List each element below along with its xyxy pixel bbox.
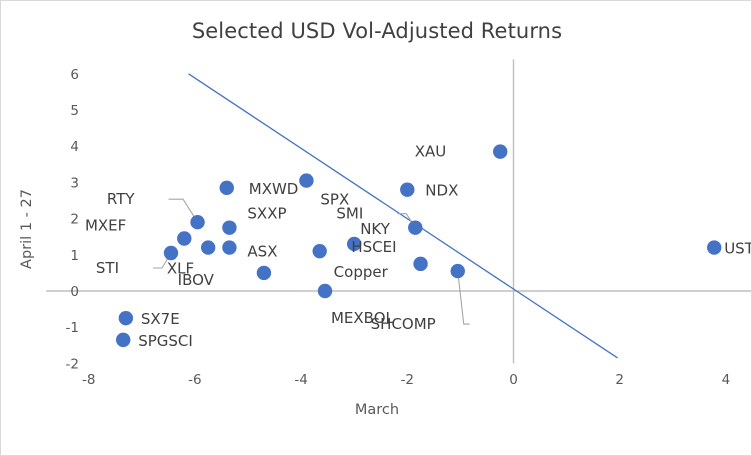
data-point-label: NDX	[425, 182, 458, 200]
data-point-label: IBOV	[178, 271, 215, 289]
data-point-marker[interactable]	[220, 181, 234, 195]
data-point-marker[interactable]	[493, 144, 507, 158]
data-point-marker[interactable]	[318, 284, 332, 298]
data-point-label: RTY	[107, 190, 135, 208]
y-tick-label: 6	[70, 67, 79, 83]
data-point-label: SMI	[336, 205, 363, 223]
data-point-marker[interactable]	[312, 244, 326, 258]
data-point-label: Copper	[334, 263, 389, 281]
data-point-label: ASX	[247, 243, 277, 261]
x-axis-title: March	[355, 402, 399, 418]
x-tick-label: -6	[188, 372, 201, 388]
data-point-label: SPGSCI	[138, 332, 193, 350]
data-point-label: XAU	[415, 143, 447, 161]
data-point-marker[interactable]	[400, 182, 414, 196]
y-tick-label: 3	[70, 175, 79, 191]
data-point-label: STI	[96, 259, 119, 277]
label-leader-line	[458, 271, 470, 324]
scatter-plot: -2-10123456-8-6-4-2024MarchApril 1 - 27M…	[1, 1, 752, 456]
data-point-label: NKY	[360, 220, 391, 238]
x-tick-label: -8	[82, 372, 95, 388]
x-tick-label: 4	[722, 372, 731, 388]
x-tick-label: 2	[615, 372, 624, 388]
data-point-marker[interactable]	[299, 173, 313, 187]
y-tick-label: 4	[70, 139, 79, 155]
y-tick-label: 1	[70, 248, 79, 264]
y-tick-label: 5	[70, 103, 79, 119]
data-point-marker[interactable]	[222, 220, 236, 234]
data-point-marker[interactable]	[201, 240, 215, 254]
y-axis-title: April 1 - 27	[19, 189, 35, 269]
data-point-marker[interactable]	[116, 333, 130, 347]
data-point-label: UST	[724, 240, 752, 258]
data-point-marker[interactable]	[190, 215, 204, 229]
data-point-label: MXEF	[85, 217, 126, 235]
data-point-marker[interactable]	[257, 266, 271, 280]
data-point-marker[interactable]	[413, 257, 427, 271]
data-point-label: HSCEI	[351, 238, 396, 256]
y-tick-label: 2	[70, 212, 79, 228]
data-point-marker[interactable]	[177, 231, 191, 245]
data-point-label: SX7E	[141, 310, 180, 328]
data-point-marker[interactable]	[408, 220, 422, 234]
data-point-marker[interactable]	[119, 311, 133, 325]
y-tick-label: -1	[66, 320, 79, 336]
chart-container: Selected USD Vol-Adjusted Returns -2-101…	[0, 0, 752, 456]
x-tick-label: 0	[509, 372, 518, 388]
data-point-label: SXXP	[247, 205, 286, 223]
data-point-label: MXWD	[249, 180, 299, 198]
x-tick-label: -2	[401, 372, 414, 388]
data-point-marker[interactable]	[707, 240, 721, 254]
y-tick-label: -2	[66, 356, 79, 372]
x-tick-label: -4	[294, 372, 307, 388]
data-point-marker[interactable]	[451, 264, 465, 278]
data-point-label: SHCOMP	[371, 315, 436, 333]
data-point-marker[interactable]	[164, 246, 178, 260]
y-tick-label: 0	[70, 284, 79, 300]
data-point-marker[interactable]	[222, 240, 236, 254]
